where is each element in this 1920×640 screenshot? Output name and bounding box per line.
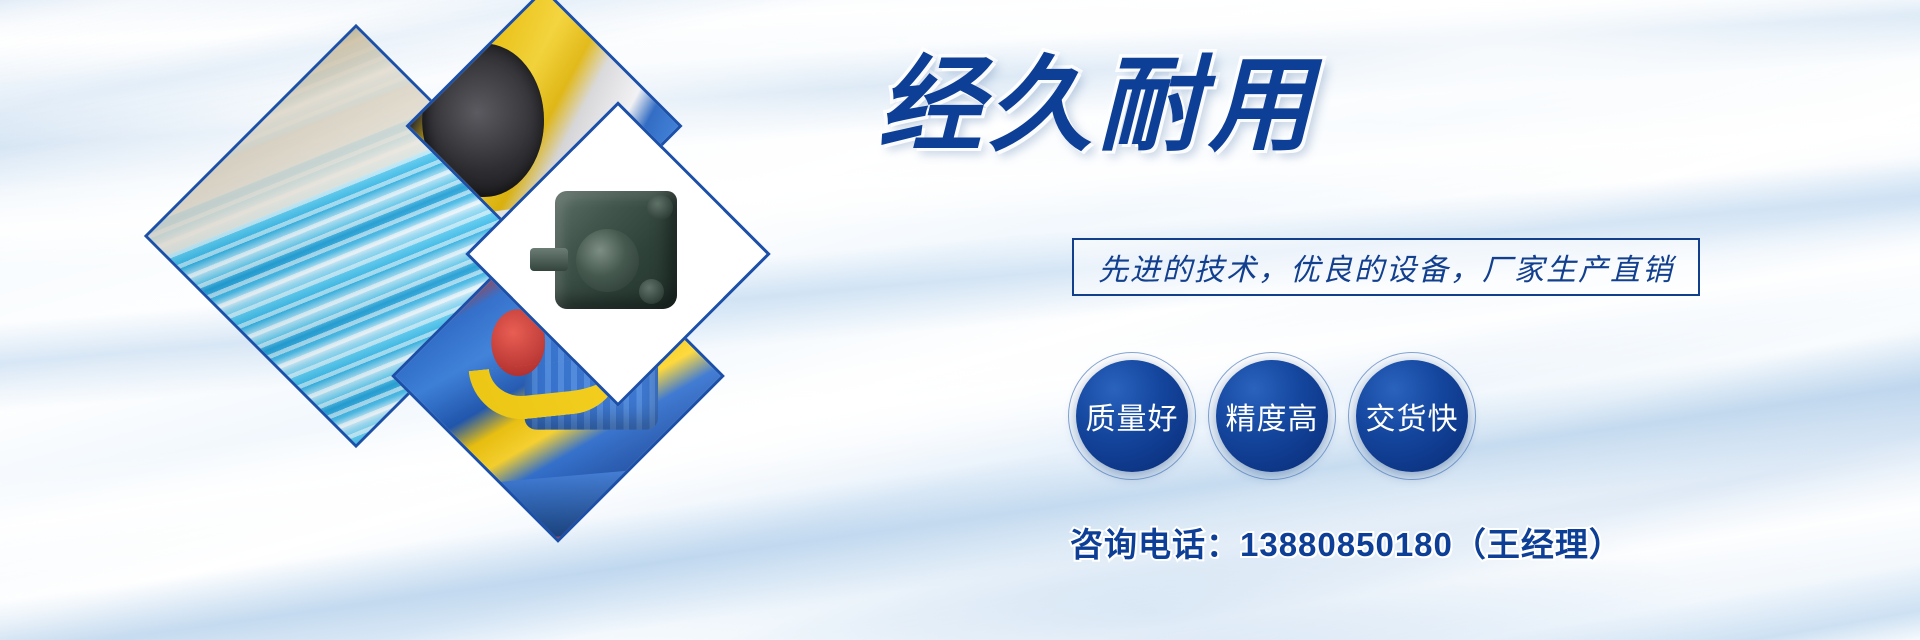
promo-banner: 经久耐用 先进的技术，优良的设备，厂家生产直销 质量好 精度高 交货快 咨询电话… bbox=[0, 0, 1920, 640]
subtitle-box: 先进的技术，优良的设备，厂家生产直销 bbox=[1072, 238, 1700, 296]
product-photo-collage bbox=[150, 18, 830, 628]
feature-badges: 质量好 精度高 交货快 bbox=[1068, 352, 1476, 480]
contact-phone-line[interactable]: 咨询电话：13880850180（王经理） bbox=[1070, 518, 1623, 566]
feature-badge-label: 交货快 bbox=[1366, 394, 1459, 438]
subtitle-text: 先进的技术，优良的设备，厂家生产直销 bbox=[1098, 245, 1674, 289]
headline-title: 经久耐用 bbox=[878, 48, 1318, 164]
feature-badge-quality[interactable]: 质量好 bbox=[1068, 352, 1196, 480]
feature-badge-precision[interactable]: 精度高 bbox=[1208, 352, 1336, 480]
feature-badge-label: 质量好 bbox=[1086, 394, 1179, 438]
feature-badge-label: 精度高 bbox=[1226, 394, 1319, 438]
feature-badge-delivery[interactable]: 交货快 bbox=[1348, 352, 1476, 480]
